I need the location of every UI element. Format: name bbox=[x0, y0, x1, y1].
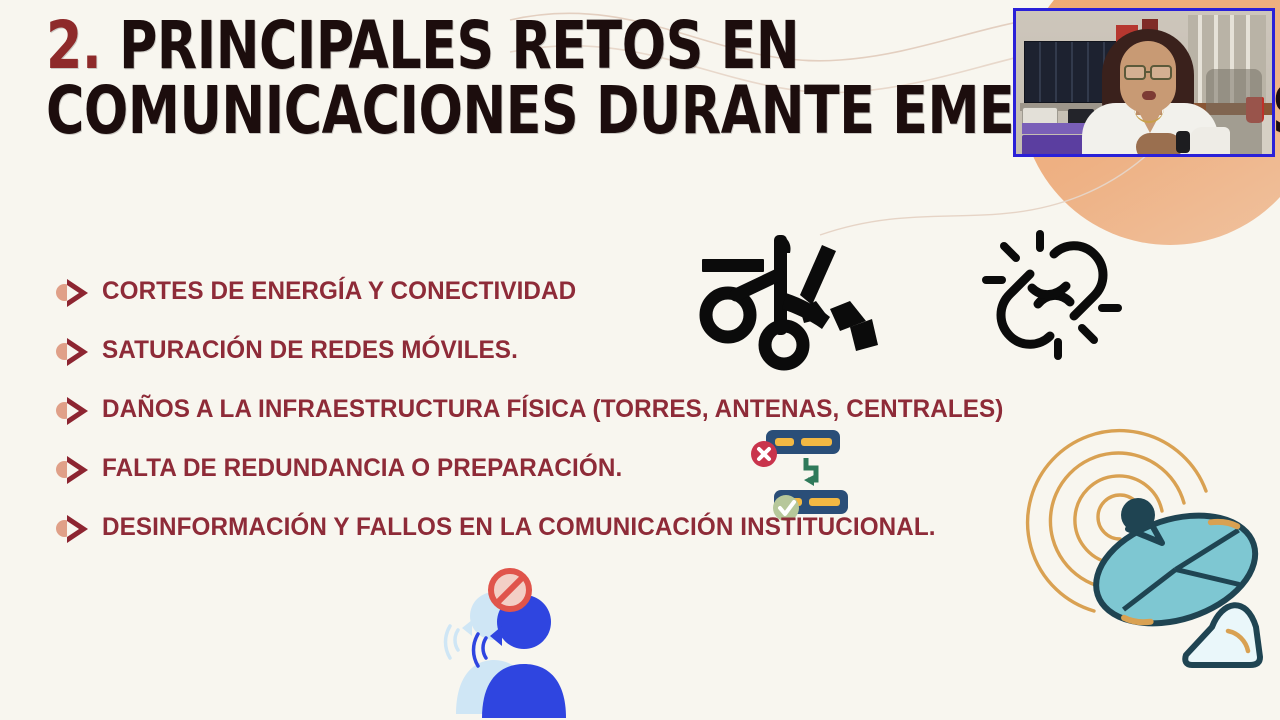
webcam-person-arm bbox=[1190, 127, 1230, 157]
list-item-label: DESINFORMACIÓN Y FALLOS EN LA COMUNICACI… bbox=[102, 513, 936, 542]
list-item: SATURACIÓN DE REDES MÓVILES. bbox=[56, 321, 1236, 380]
glasses-icon bbox=[1150, 65, 1172, 80]
glasses-icon bbox=[1124, 65, 1146, 80]
glasses-bridge bbox=[1146, 71, 1152, 73]
bullet-arrow-icon bbox=[56, 336, 102, 366]
list-item-label: DAÑOS A LA INFRAESTRUCTURA FÍSICA (TORRE… bbox=[102, 395, 1003, 424]
webcam-video-feed bbox=[1016, 11, 1272, 154]
webcam-person-face bbox=[1120, 41, 1176, 113]
chevron-right-icon bbox=[67, 279, 88, 307]
prohibited-sign-icon bbox=[491, 571, 529, 609]
chevron-right-icon bbox=[67, 456, 88, 484]
title-line-2: COMUNICACIONES DURANTE EMERGENCIAS bbox=[46, 79, 1102, 144]
bullet-arrow-icon bbox=[56, 277, 102, 307]
webcam-overlay[interactable] bbox=[1013, 8, 1275, 157]
misinformation-people-icon bbox=[448, 568, 572, 720]
chevron-right-icon bbox=[67, 338, 88, 366]
chevron-right-icon bbox=[67, 515, 88, 543]
list-item: FALTA DE REDUNDANCIA O PREPARACIÓN. bbox=[56, 439, 1236, 498]
challenges-list: CORTES DE ENERGÍA Y CONECTIVIDAD SATURAC… bbox=[56, 262, 1236, 557]
webcam-person-watch bbox=[1176, 131, 1190, 153]
speech-waves-icon bbox=[446, 626, 459, 658]
bullet-arrow-icon bbox=[56, 513, 102, 543]
bullet-arrow-icon bbox=[56, 454, 102, 484]
list-item-label: SATURACIÓN DE REDES MÓVILES. bbox=[102, 336, 518, 365]
list-item: DAÑOS A LA INFRAESTRUCTURA FÍSICA (TORRE… bbox=[56, 380, 1236, 439]
list-item-label: CORTES DE ENERGÍA Y CONECTIVIDAD bbox=[102, 277, 576, 306]
title-line-1: 2. PRINCIPALES RETOS EN bbox=[46, 14, 1102, 79]
webcam-person-mouth bbox=[1142, 91, 1156, 100]
chevron-right-icon bbox=[67, 397, 88, 425]
list-item: CORTES DE ENERGÍA Y CONECTIVIDAD bbox=[56, 262, 1236, 321]
list-item: DESINFORMACIÓN Y FALLOS EN LA COMUNICACI… bbox=[56, 498, 1236, 557]
list-item-label: FALTA DE REDUNDANCIA O PREPARACIÓN. bbox=[102, 454, 622, 483]
bullet-arrow-icon bbox=[56, 395, 102, 425]
speech-waves-icon bbox=[474, 634, 487, 666]
